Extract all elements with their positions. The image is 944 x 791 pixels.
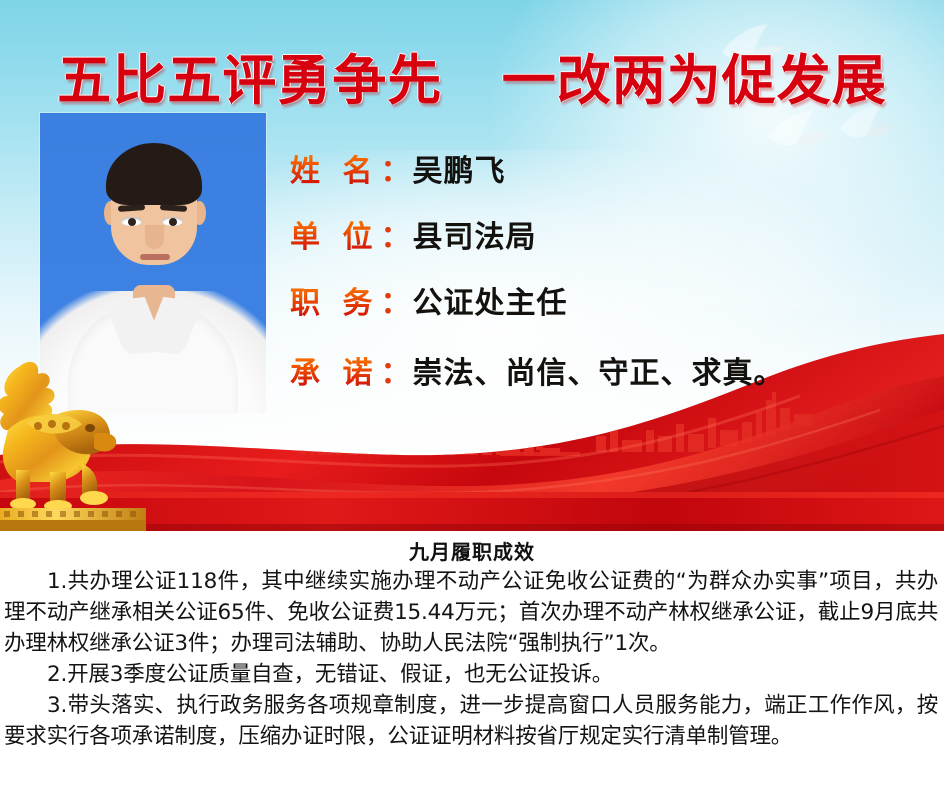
report-paragraph-3: 3.带头落实、执行政务服务各项规章制度，进一步提高窗口人员服务能力，端正工作作风… — [4, 690, 938, 752]
info-field-promise: 承 诺 ： 崇法、尚信、守正、求真。 — [290, 348, 910, 392]
info-value-promise: 崇法、尚信、守正、求真。 — [412, 348, 784, 392]
info-colon-name: ： — [380, 146, 410, 190]
person-info-list: 姓 名 ： 吴鹏飞 单 位 ： 县司法局 职 务 ： 公证处主任 承 诺 ： 崇… — [290, 146, 910, 392]
banner-header: 五比五评勇争先 一改两为促发展 — [0, 0, 944, 531]
info-value-unit: 县司法局 — [412, 212, 536, 256]
info-label-promise: 承 诺 — [290, 348, 378, 392]
report-paragraph-1: 1.共办理公证118件，其中继续实施办理不动产公证免收公证费的“为群众办实事”项… — [4, 566, 938, 659]
golden-lion-statue-icon — [0, 352, 158, 531]
info-colon-position: ： — [380, 278, 410, 322]
info-label-name: 姓 名 — [290, 146, 378, 190]
report-heading: 九月履职成效 — [0, 536, 944, 565]
info-value-name: 吴鹏飞 — [412, 146, 505, 190]
photo-hair — [106, 143, 202, 205]
info-field-name: 姓 名 ： 吴鹏飞 — [290, 146, 910, 190]
info-colon-unit: ： — [380, 212, 410, 256]
info-label-position: 职 务 — [290, 278, 378, 322]
info-field-position: 职 务 ： 公证处主任 — [290, 278, 910, 322]
photo-nose — [145, 225, 164, 249]
report-paragraph-2: 2.开展3季度公证质量自查，无错证、假证，也无公证投诉。 — [4, 659, 938, 690]
info-value-position: 公证处主任 — [412, 278, 567, 322]
poster-title: 五比五评勇争先 一改两为促发展 — [0, 36, 944, 115]
info-label-unit: 单 位 — [290, 212, 378, 256]
info-field-unit: 单 位 ： 县司法局 — [290, 212, 910, 256]
photo-pupil-right — [169, 218, 177, 226]
report-section: 九月履职成效 1.共办理公证118件，其中继续实施办理不动产公证免收公证费的“为… — [0, 531, 944, 791]
photo-mouth — [140, 254, 170, 260]
photo-pupil-left — [128, 218, 136, 226]
info-colon-promise: ： — [380, 348, 410, 392]
poster-root: 五比五评勇争先 一改两为促发展 — [0, 0, 944, 791]
